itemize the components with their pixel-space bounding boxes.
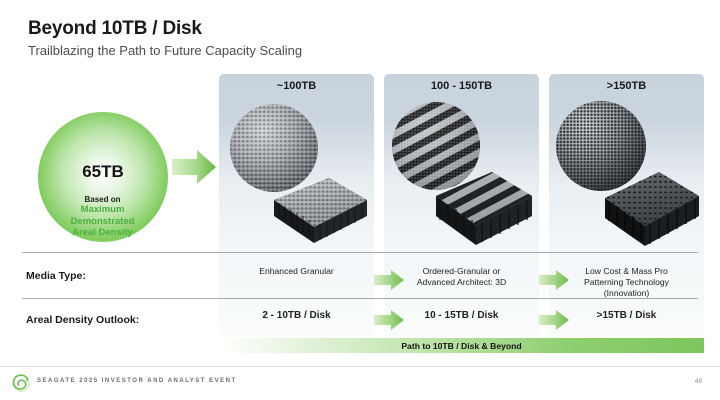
footer-divider — [0, 366, 720, 367]
cell-media-type-0: Enhanced Granular — [219, 266, 374, 277]
column-header-2: >150TB — [549, 80, 704, 92]
capacity-column-panel-1: 100 - 150TB — [384, 74, 539, 252]
right-arrow-icon — [172, 148, 216, 186]
bit-patterned-sphere-and-array-icon — [549, 96, 704, 248]
comparison-table: Media Type: Enhanced Granular Ordered-Gr… — [22, 252, 698, 336]
cell-media-type-1: Ordered-Granular or Advanced Architect: … — [384, 266, 539, 288]
cell-areal-density-0: 2 - 10TB / Disk — [219, 310, 374, 323]
column-header-0: ~100TB — [219, 80, 374, 92]
cell-media-type-0-line-1: Enhanced Granular — [259, 266, 334, 276]
table-divider-top — [22, 252, 698, 253]
cell-media-type-1-line-2: Advanced Architect: 3D — [417, 277, 506, 287]
capacity-column-panel-2: >150TB — [549, 74, 704, 252]
path-banner-label: Path to 10TB / Disk & Beyond — [401, 341, 521, 351]
cell-media-type-2-line-3: (Innovation) — [604, 288, 649, 298]
cell-media-type-2-line-2: Patterning Technology — [584, 277, 669, 287]
path-banner: Path to 10TB / Disk & Beyond — [219, 338, 704, 353]
cell-media-type-2-line-1: Low Cost & Mass Pro — [585, 266, 668, 276]
capacity-column-panel-0: ~100TB — [219, 74, 374, 252]
caption-line-2: Demonstrated — [30, 216, 175, 227]
page-subtitle: Trailblazing the Path to Future Capacity… — [28, 43, 302, 58]
caption-line-3: Areal Density — [30, 227, 175, 238]
column-header-1: 100 - 150TB — [384, 80, 539, 92]
cell-media-type-2: Low Cost & Mass Pro Patterning Technolog… — [549, 266, 704, 299]
caption-line-1: Maximum — [30, 204, 175, 215]
cell-areal-density-2: >15TB / Disk — [549, 310, 704, 323]
row-label-areal-density: Areal Density Outlook: — [26, 314, 139, 326]
row-label-media-type: Media Type: — [26, 270, 86, 282]
seagate-spiral-logo-icon — [12, 374, 30, 392]
page-title: Beyond 10TB / Disk — [28, 18, 202, 40]
cell-areal-density-1: 10 - 15TB / Disk — [384, 310, 539, 323]
capacity-value-label: 65TB — [38, 162, 168, 182]
caption-lead: Based on — [30, 195, 175, 204]
page-number: 49 — [695, 378, 702, 385]
capacity-bubble-caption: Based on Maximum Demonstrated Areal Dens… — [30, 195, 175, 238]
ordered-granular-striped-sphere-and-slab-icon — [384, 96, 539, 248]
cell-media-type-1-line-1: Ordered-Granular or — [423, 266, 501, 276]
granular-sphere-and-slab-icon — [219, 96, 374, 248]
footer-text: SEAGATE 2025 INVESTOR AND ANALYST EVENT — [37, 378, 237, 384]
